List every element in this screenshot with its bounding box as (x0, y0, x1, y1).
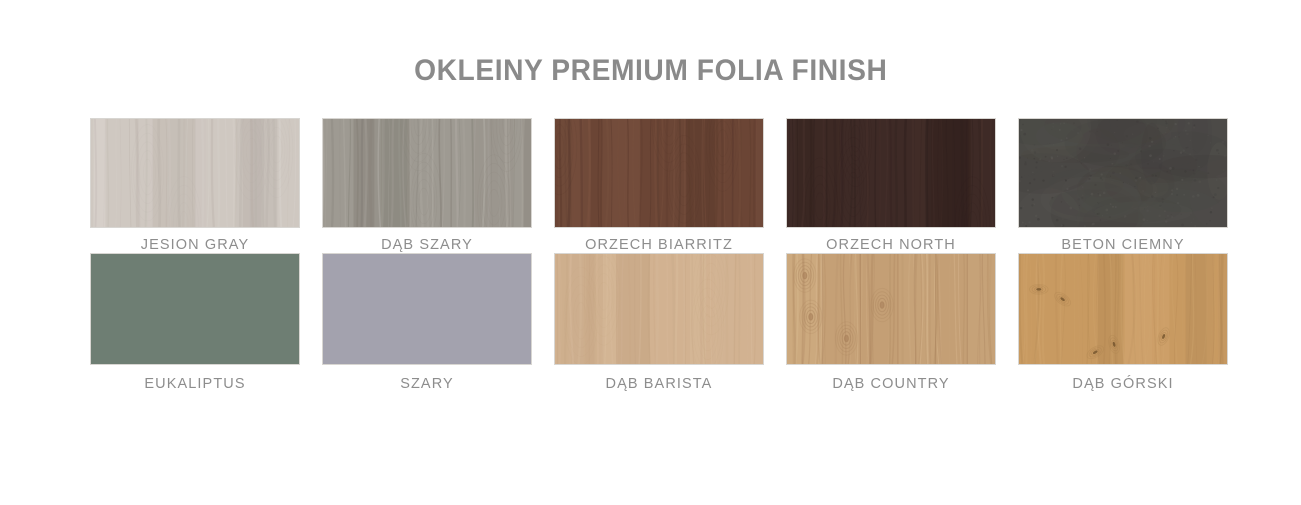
swatch-cell[interactable]: EUKALIPTUS (90, 253, 300, 392)
swatch-label: DĄB BARISTA (606, 377, 713, 392)
swatch-cell[interactable]: ORZECH BIARRITZ (554, 118, 764, 253)
swatch-grid: JESION GRAY DĄB SZARY ORZECH BIARRITZ OR… (90, 118, 1230, 391)
finish-palette-page: OKLEINY PREMIUM FOLIA FINISH JESION GRAY… (0, 0, 1301, 505)
swatch-label: SZARY (400, 377, 454, 392)
swatch-row-1: JESION GRAY DĄB SZARY ORZECH BIARRITZ OR… (90, 118, 1230, 253)
swatch-cell[interactable]: DĄB COUNTRY (786, 253, 996, 392)
swatch-label: ORZECH BIARRITZ (585, 238, 733, 253)
swatch-label: ORZECH NORTH (826, 238, 956, 253)
swatch-orzech-biarritz[interactable] (554, 118, 764, 228)
swatch-cell[interactable]: JESION GRAY (90, 118, 300, 253)
swatch-beton-ciemny[interactable] (1018, 118, 1228, 228)
swatch-orzech-north[interactable] (786, 118, 996, 228)
swatch-dab-country[interactable] (786, 253, 996, 365)
swatch-label: DĄB COUNTRY (832, 377, 949, 392)
swatch-cell[interactable]: DĄB GÓRSKI (1018, 253, 1228, 392)
swatch-dab-szary[interactable] (322, 118, 532, 228)
swatch-cell[interactable]: SZARY (322, 253, 532, 392)
swatch-szary[interactable] (322, 253, 532, 365)
page-title-bar: OKLEINY PREMIUM FOLIA FINISH (0, 56, 1301, 86)
swatch-cell[interactable]: BETON CIEMNY (1018, 118, 1228, 253)
swatch-label: DĄB SZARY (381, 238, 473, 253)
page-title: OKLEINY PREMIUM FOLIA FINISH (414, 56, 887, 86)
swatch-cell[interactable]: DĄB SZARY (322, 118, 532, 253)
swatch-label: BETON CIEMNY (1061, 238, 1184, 253)
swatch-dab-gorski[interactable] (1018, 253, 1228, 365)
swatch-row-2: EUKALIPTUS SZARY DĄB BARISTA DĄB COUNTRY… (90, 253, 1230, 392)
swatch-label: EUKALIPTUS (144, 377, 245, 392)
swatch-cell[interactable]: ORZECH NORTH (786, 118, 996, 253)
swatch-jesion-gray[interactable] (90, 118, 300, 228)
swatch-label: JESION GRAY (141, 238, 250, 253)
swatch-label: DĄB GÓRSKI (1072, 377, 1173, 392)
swatch-cell[interactable]: DĄB BARISTA (554, 253, 764, 392)
swatch-eukaliptus[interactable] (90, 253, 300, 365)
swatch-dab-barista[interactable] (554, 253, 764, 365)
